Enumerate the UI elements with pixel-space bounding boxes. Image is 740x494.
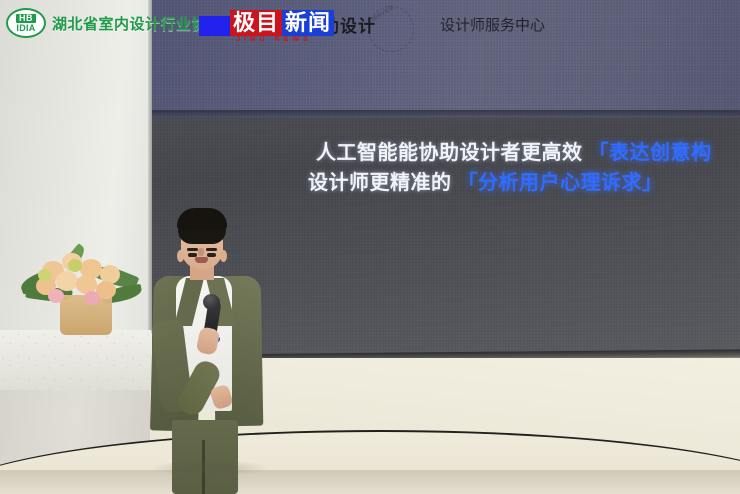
slide-line-2-white: 设计师更精准的: [308, 172, 452, 194]
slide-line-1-white: 人工智能能协助设计者更高效: [316, 142, 583, 164]
trousers: [172, 420, 238, 494]
watermark-red-text: 极目: [230, 10, 282, 36]
speaker-figure: [150, 210, 280, 494]
floral-arrangement: [18, 243, 146, 338]
logo-line-2: IDIA: [16, 24, 35, 33]
logo-line-1: HB: [16, 14, 36, 23]
banner-title-right: 设计师服务中心: [440, 14, 545, 35]
nose: [198, 248, 204, 256]
slide-line-1-blue: 「表达创意构: [589, 142, 712, 164]
floor-base: [0, 470, 740, 494]
floor-shadow: [150, 460, 270, 476]
slide-line-2: 设计师更精准的 「分析用户心理诉求」: [308, 168, 740, 198]
hair-top: [177, 208, 227, 230]
stone-counter: [0, 330, 152, 390]
circular-seal-watermark: SERVICE: [368, 6, 414, 52]
hb-idia-logo: HB IDIA: [6, 8, 46, 38]
jimu-news-watermark: 极目 新闻: [230, 10, 334, 36]
slide-text-block: 人工智能能协助设计者更高效 「表达创意构 设计师更精准的 「分析用户心理诉求」: [316, 138, 740, 198]
watermark-blue-text: 新闻: [282, 10, 334, 36]
screenshot-root: HB IDIA 湖北省室内设计行业协会 人工智能辅助设计 SERVICE 设计师…: [0, 0, 740, 494]
mouth: [195, 257, 208, 263]
watermark-subtitle: JIMU NEWS: [236, 36, 312, 43]
slide-line-1: 人工智能能协助设计者更高效 「表达创意构: [316, 138, 740, 168]
counter-texture: [0, 330, 152, 390]
association-name: 湖北省室内设计行业协会: [52, 13, 223, 34]
event-banner-strip: HB IDIA 湖北省室内设计行业协会 人工智能辅助设计 SERVICE 设计师…: [0, 0, 740, 46]
association-branding: HB IDIA 湖北省室内设计行业协会: [6, 8, 223, 38]
slide-line-2-blue: 「分析用户心理诉求」: [458, 172, 663, 194]
